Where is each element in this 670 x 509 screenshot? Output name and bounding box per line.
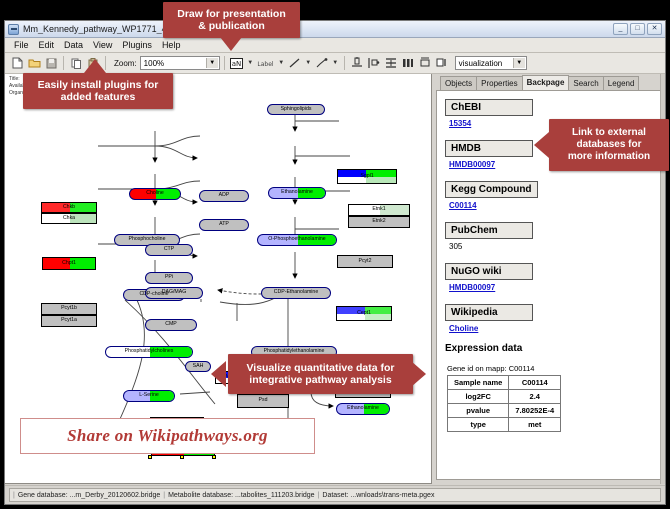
svg-text:Label: Label — [258, 61, 275, 68]
tab-backpage[interactable]: Backpage — [522, 75, 570, 90]
interaction-dropdown-icon[interactable]: ▼ — [331, 55, 340, 71]
zoom-label: Zoom: — [114, 59, 137, 68]
node-choline-top[interactable]: Choline — [129, 188, 181, 200]
node-label: CMP — [165, 322, 177, 327]
node-label: Pcyt1b — [61, 306, 77, 311]
expression-table: Sample name C00114 log2FC 2.4 pvalue 7.8… — [447, 375, 561, 432]
callout-line: Draw for presentation — [177, 8, 286, 20]
status-gene-database: Gene database: ...m_Derby_20120602.bridg… — [18, 492, 160, 499]
callout-easily-install-plugins: Easily install plugins for added feature… — [23, 73, 173, 109]
node-sphingolipids[interactable]: Sphingolipids — [267, 104, 325, 115]
menu-item-file[interactable]: File — [9, 38, 34, 52]
tab-objects[interactable]: Objects — [440, 76, 477, 90]
tab-legend[interactable]: Legend — [603, 76, 640, 90]
node-sah[interactable]: SAH — [185, 361, 211, 372]
cell-key: pvalue — [448, 404, 509, 418]
table-row: log2FC 2.4 — [448, 390, 561, 404]
node-label: Etnk1 — [372, 207, 385, 212]
new-file-icon[interactable] — [9, 55, 25, 71]
callout-arrow-up-icon — [84, 59, 106, 73]
node-pcyt1a[interactable]: Pcyt1a — [41, 315, 97, 327]
node-phosphatidylcholines[interactable]: Phosphatidylcholines — [105, 346, 193, 358]
callout-arrow-down-icon — [220, 37, 242, 51]
node-adp[interactable]: ADP — [199, 190, 249, 202]
node-label: Chka — [63, 216, 75, 221]
node-chka[interactable]: Chka — [41, 213, 97, 224]
menu-item-data[interactable]: Data — [59, 38, 88, 52]
node-label: Chkb — [63, 205, 75, 210]
node-label: PPi — [165, 275, 173, 280]
align-top-icon[interactable] — [349, 55, 365, 71]
node-label: Sphingolipids — [281, 107, 312, 112]
stack-vertical-icon[interactable] — [383, 55, 399, 71]
callout-line: more information — [568, 151, 650, 163]
node-label: Psd — [259, 398, 268, 403]
link-kegg-compound[interactable]: C00114 — [449, 201, 660, 210]
node-ctp[interactable]: CTP — [145, 244, 193, 256]
cell-value: 7.80252E-4 — [509, 404, 561, 418]
callout-line: Visualize quantitative data for — [246, 362, 394, 374]
z-order-icon[interactable] — [434, 55, 450, 71]
node-cept1[interactable]: Cept1 — [336, 306, 392, 321]
node-label: Choline — [146, 191, 164, 196]
node-pcyt2[interactable]: Pcyt2 — [337, 255, 393, 268]
status-metabolite-database: Metabolite database: ...tabolites_111203… — [168, 492, 314, 499]
maximize-button[interactable]: □ — [630, 23, 645, 35]
section-header-kegg-compound: Kegg Compound — [445, 181, 538, 198]
node-o-phosphoethanolamine[interactable]: O-Phosphoethanolamine — [257, 234, 337, 246]
cell-key: type — [448, 418, 509, 432]
node-label: O-Phosphoethanolamine — [268, 237, 325, 242]
callout-line: Easily install plugins for — [38, 79, 159, 91]
cell-key: log2FC — [448, 390, 509, 404]
tab-properties[interactable]: Properties — [476, 76, 522, 90]
node-label: Ethanolamine — [347, 406, 379, 411]
node-label: Phosphatidylcholines — [125, 349, 174, 354]
interaction-icon[interactable] — [314, 55, 330, 71]
node-cdp-ethanolamine[interactable]: CDP-Ethanolamine — [261, 287, 331, 299]
status-dataset: Dataset: ...wnloads\trans-meta.pgex — [322, 492, 434, 499]
node-label: Cept1 — [357, 311, 371, 316]
node-ppi[interactable]: PPi — [145, 272, 193, 284]
chevron-down-icon[interactable]: ▼ — [206, 58, 218, 68]
side-panel-tabs: Objects Properties Backpage Search Legen… — [436, 76, 663, 90]
node-chkb[interactable]: Chkb — [41, 202, 97, 213]
menu-bar: File Edit Data View Plugins Help — [5, 38, 665, 53]
section-header-hmdb: HMDB — [445, 140, 533, 157]
callout-arrow-left-icon — [211, 361, 226, 387]
label-icon[interactable]: Label — [256, 55, 276, 71]
selection-handle[interactable] — [212, 455, 216, 459]
copy-icon[interactable] — [68, 55, 84, 71]
callout-link-to-external-databases: Link to external databases for more info… — [549, 119, 669, 171]
callout-line: integrative pathway analysis — [246, 374, 394, 386]
node-label: ATP — [219, 222, 229, 227]
visualization-combo[interactable]: visualization ▼ — [455, 56, 527, 70]
node-psd[interactable]: Psd — [237, 394, 289, 408]
node-chpt1[interactable]: Chpt1 — [42, 257, 96, 270]
table-row: pvalue 7.80252E-4 — [448, 404, 561, 418]
line-dropdown-icon[interactable]: ▼ — [304, 55, 313, 71]
cell-value: 2.4 — [509, 390, 561, 404]
node-atp[interactable]: ATP — [199, 219, 249, 231]
status-bar: | Gene database: ...m_Derby_20120602.bri… — [5, 485, 665, 504]
cell-value: met — [509, 418, 561, 432]
open-folder-icon[interactable] — [26, 55, 42, 71]
node-label: Pcyt2 — [359, 259, 372, 264]
node-sgpl1[interactable]: Sgpl1 — [337, 169, 397, 184]
node-ethanolamine-right[interactable]: Ethanolamine — [336, 403, 390, 415]
node-label: Pcyt1a — [61, 318, 77, 323]
callout-arrow-left-icon — [534, 132, 549, 158]
datanode-icon[interactable]: aN — [229, 55, 245, 71]
save-icon[interactable] — [43, 55, 59, 71]
gene-id-label: Gene id on mapp: C00114 — [447, 364, 660, 373]
minimize-button[interactable]: _ — [613, 23, 628, 35]
selection-handle[interactable] — [180, 455, 184, 459]
window-controls: _ □ ✕ — [613, 23, 662, 35]
cell-key: Sample name — [448, 376, 509, 390]
table-row: type met — [448, 418, 561, 432]
menu-item-edit[interactable]: Edit — [34, 38, 60, 52]
distribute-icon[interactable] — [400, 55, 416, 71]
node-label: Sgpl1 — [360, 174, 373, 179]
tab-search[interactable]: Search — [568, 76, 603, 90]
callout-line: Link to external — [568, 127, 650, 139]
menu-item-plugins[interactable]: Plugins — [117, 38, 157, 52]
label-dropdown-icon[interactable]: ▼ — [277, 55, 286, 71]
node-label: CDP-Ethanolamine — [274, 290, 318, 295]
table-row: Sample name C00114 — [448, 376, 561, 390]
menu-item-help[interactable]: Help — [157, 38, 186, 52]
callout-line: & publication — [177, 20, 286, 32]
chevron-down-icon[interactable]: ▼ — [513, 58, 525, 68]
callout-arrow-right-icon — [411, 361, 426, 387]
node-etnk2[interactable]: Etnk2 — [348, 216, 410, 228]
callout-visualize-quantitative-data: Visualize quantitative data for integrat… — [228, 354, 413, 394]
title-bar: Mm_Kennedy_pathway_WP1771_45176.gpml _ □… — [5, 21, 665, 38]
node-label: Ethanolamine — [281, 190, 313, 195]
align-left-icon[interactable] — [366, 55, 382, 71]
section-header-wikipedia: Wikipedia — [445, 304, 533, 321]
callout-share-on-wikipathways: Share on Wikipathways.org — [20, 418, 315, 454]
cell-value: C00114 — [509, 376, 561, 390]
node-ethanolamine[interactable]: Ethanolamine — [268, 187, 326, 199]
callout-line: databases for — [568, 139, 650, 151]
link-wikipedia[interactable]: Choline — [449, 324, 660, 333]
section-header-nugo-wiki: NuGO wiki — [445, 263, 533, 280]
node-label: L-Serine — [139, 393, 159, 398]
datanode-dropdown-icon[interactable]: ▼ — [246, 55, 255, 71]
expression-data-title: Expression data — [445, 343, 660, 354]
link-nugo-wiki[interactable]: HMDB00097 — [449, 283, 660, 292]
node-label: Etnk2 — [372, 219, 385, 224]
node-l-serine-left[interactable]: L-Serine — [123, 390, 175, 402]
close-button[interactable]: ✕ — [647, 23, 662, 35]
size-equal-icon[interactable] — [417, 55, 433, 71]
section-header-chebi: ChEBI — [445, 99, 533, 116]
node-pcyt1b[interactable]: Pcyt1b — [41, 303, 97, 315]
value-pubchem: 305 — [449, 242, 660, 251]
node-cmp[interactable]: CMP — [145, 319, 197, 331]
node-label: DAG/MAG — [162, 290, 187, 295]
section-header-pubchem: PubChem — [445, 222, 533, 239]
callout-line: added features — [38, 91, 159, 103]
svg-text:aN: aN — [232, 60, 242, 68]
node-label: SAH — [193, 364, 204, 369]
node-label: Phosphocholine — [129, 237, 166, 242]
pathvisio-icon — [8, 24, 19, 35]
callout-draw-for-presentation: Draw for presentation & publication — [163, 2, 300, 38]
line-icon[interactable] — [287, 55, 303, 71]
menu-item-view[interactable]: View — [88, 38, 117, 52]
node-label: Chpt1 — [62, 261, 76, 266]
zoom-value: 100% — [144, 59, 164, 68]
selection-handle[interactable] — [148, 455, 152, 459]
callout-line: Share on Wikipathways.org — [67, 426, 268, 446]
visualization-value: visualization — [459, 59, 503, 68]
node-label: CTP — [164, 247, 174, 252]
zoom-combo[interactable]: 100% ▼ — [140, 56, 220, 70]
node-etnk1[interactable]: Etnk1 — [348, 204, 410, 216]
node-label: ADP — [219, 193, 230, 198]
